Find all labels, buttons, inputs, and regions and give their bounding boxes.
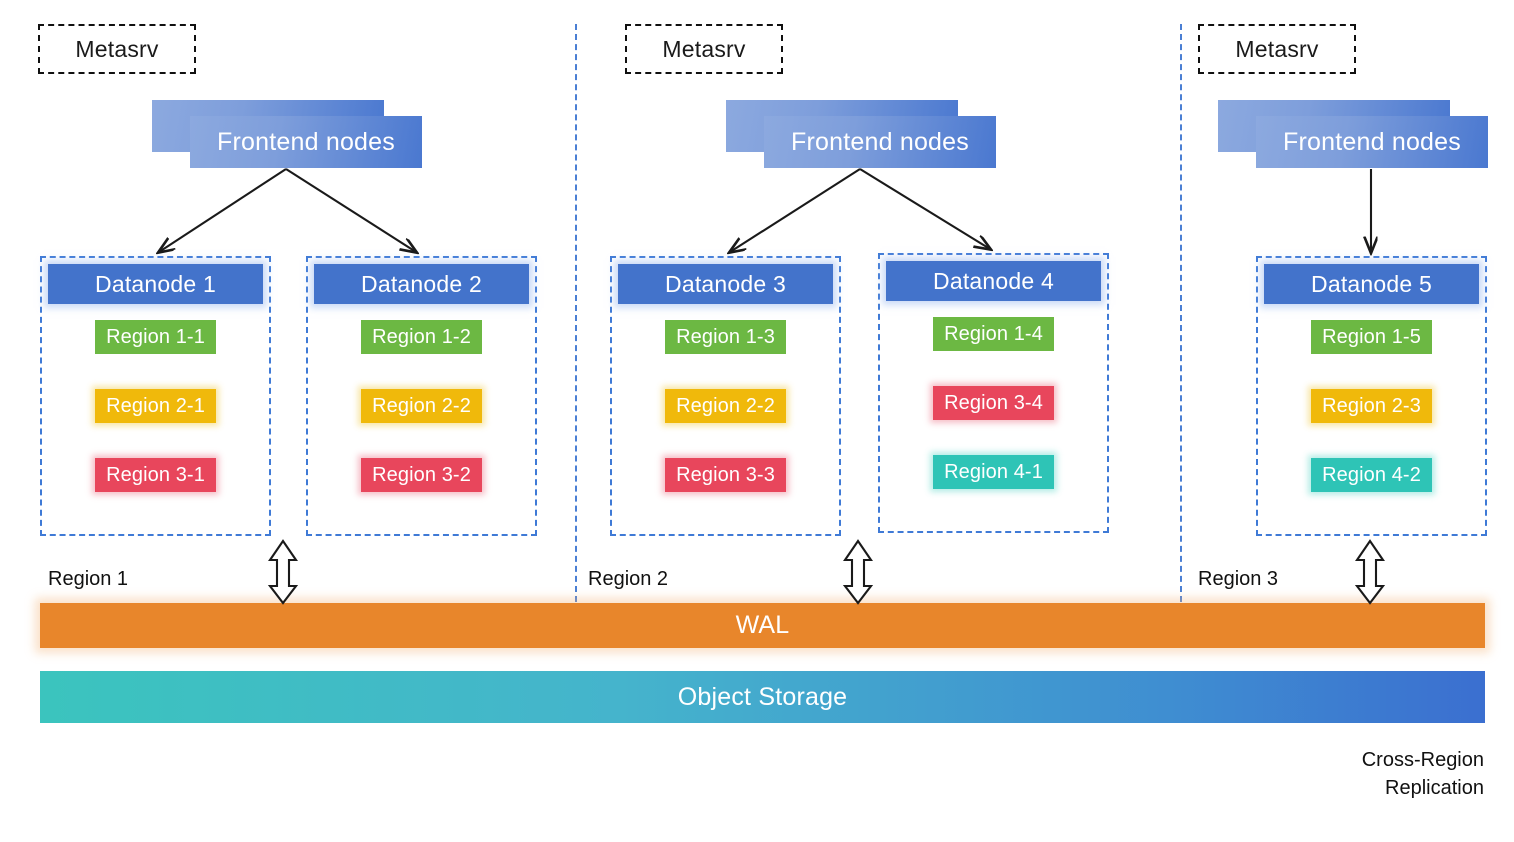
metasrv-label: Metasrv xyxy=(1235,36,1318,63)
region-pill: Region 4-2 xyxy=(1311,458,1432,492)
frontend-nodes-region-2: Frontend nodes xyxy=(726,100,996,168)
datanode-2-title: Datanode 2 xyxy=(361,271,482,298)
region-pill: Region 2-2 xyxy=(361,389,482,423)
datanode-1: Datanode 1 Region 1-1 Region 2-1 Region … xyxy=(40,256,271,536)
object-storage-label: Object Storage xyxy=(678,683,848,712)
region-pill: Region 1-3 xyxy=(665,320,786,354)
architecture-diagram: Metasrv Frontend nodes Datanode 1 Region… xyxy=(0,0,1514,842)
frontend-to-datanode-arrows-region-1 xyxy=(159,169,416,252)
frontend-nodes-region-3: Frontend nodes xyxy=(1218,100,1488,168)
datanode-4-header: Datanode 4 xyxy=(886,261,1101,301)
region-pill: Region 2-2 xyxy=(665,389,786,423)
region-pill: Region 1-1 xyxy=(95,320,216,354)
metasrv-box-region-3: Metasrv xyxy=(1198,24,1356,74)
region-pill: Region 3-1 xyxy=(95,458,216,492)
region-pill: Region 4-1 xyxy=(933,455,1054,489)
object-storage-bar: Object Storage xyxy=(40,671,1485,723)
zone-label-region-1: Region 1 xyxy=(48,568,128,591)
region-pill: Region 1-4 xyxy=(933,317,1054,351)
datanode-3-region-list: Region 1-3 Region 2-2 Region 3-3 xyxy=(612,320,839,527)
frontend-to-datanode-arrows-region-2 xyxy=(730,169,990,252)
zone-separator-1 xyxy=(575,24,577,602)
metasrv-label: Metasrv xyxy=(75,36,158,63)
wal-label: WAL xyxy=(736,611,790,640)
frontend-nodes-label: Frontend nodes xyxy=(791,128,969,157)
datanode-wal-double-arrow-region-1 xyxy=(270,541,296,603)
wal-bar: WAL xyxy=(40,603,1485,648)
datanode-1-region-list: Region 1-1 Region 2-1 Region 3-1 xyxy=(42,320,269,527)
datanode-1-header: Datanode 1 xyxy=(48,264,263,304)
datanode-2: Datanode 2 Region 1-2 Region 2-2 Region … xyxy=(306,256,537,536)
datanode-4: Datanode 4 Region 1-4 Region 3-4 Region … xyxy=(878,253,1109,533)
metasrv-label: Metasrv xyxy=(662,36,745,63)
datanode-2-region-list: Region 1-2 Region 2-2 Region 3-2 xyxy=(308,320,535,527)
frontend-card-front: Frontend nodes xyxy=(764,116,996,168)
datanode-3: Datanode 3 Region 1-3 Region 2-2 Region … xyxy=(610,256,841,536)
zone-label-region-2: Region 2 xyxy=(588,568,668,591)
region-pill: Region 1-2 xyxy=(361,320,482,354)
datanode-3-title: Datanode 3 xyxy=(665,271,786,298)
region-pill: Region 3-4 xyxy=(933,386,1054,420)
frontend-card-front: Frontend nodes xyxy=(1256,116,1488,168)
region-pill: Region 2-1 xyxy=(95,389,216,423)
metasrv-box-region-2: Metasrv xyxy=(625,24,783,74)
datanode-3-header: Datanode 3 xyxy=(618,264,833,304)
datanode-1-title: Datanode 1 xyxy=(95,271,216,298)
datanode-5-region-list: Region 1-5 Region 2-3 Region 4-2 xyxy=(1258,320,1485,527)
frontend-nodes-label: Frontend nodes xyxy=(1283,128,1461,157)
datanode-5-title: Datanode 5 xyxy=(1311,271,1432,298)
datanode-4-region-list: Region 1-4 Region 3-4 Region 4-1 xyxy=(880,317,1107,524)
datanode-2-header: Datanode 2 xyxy=(314,264,529,304)
cross-region-replication-note: Cross-Region Replication xyxy=(1362,746,1484,803)
datanode-4-title: Datanode 4 xyxy=(933,268,1054,295)
region-pill: Region 2-3 xyxy=(1311,389,1432,423)
region-pill: Region 3-3 xyxy=(665,458,786,492)
zone-separator-2 xyxy=(1180,24,1182,602)
datanode-5: Datanode 5 Region 1-5 Region 2-3 Region … xyxy=(1256,256,1487,536)
region-pill: Region 1-5 xyxy=(1311,320,1432,354)
datanode-wal-double-arrow-region-3 xyxy=(1357,541,1383,603)
zone-label-region-3: Region 3 xyxy=(1198,568,1278,591)
frontend-card-front: Frontend nodes xyxy=(190,116,422,168)
frontend-nodes-label: Frontend nodes xyxy=(217,128,395,157)
datanode-5-header: Datanode 5 xyxy=(1264,264,1479,304)
datanode-wal-double-arrow-region-2 xyxy=(845,541,871,603)
frontend-nodes-region-1: Frontend nodes xyxy=(152,100,422,168)
metasrv-box-region-1: Metasrv xyxy=(38,24,196,74)
region-pill: Region 3-2 xyxy=(361,458,482,492)
